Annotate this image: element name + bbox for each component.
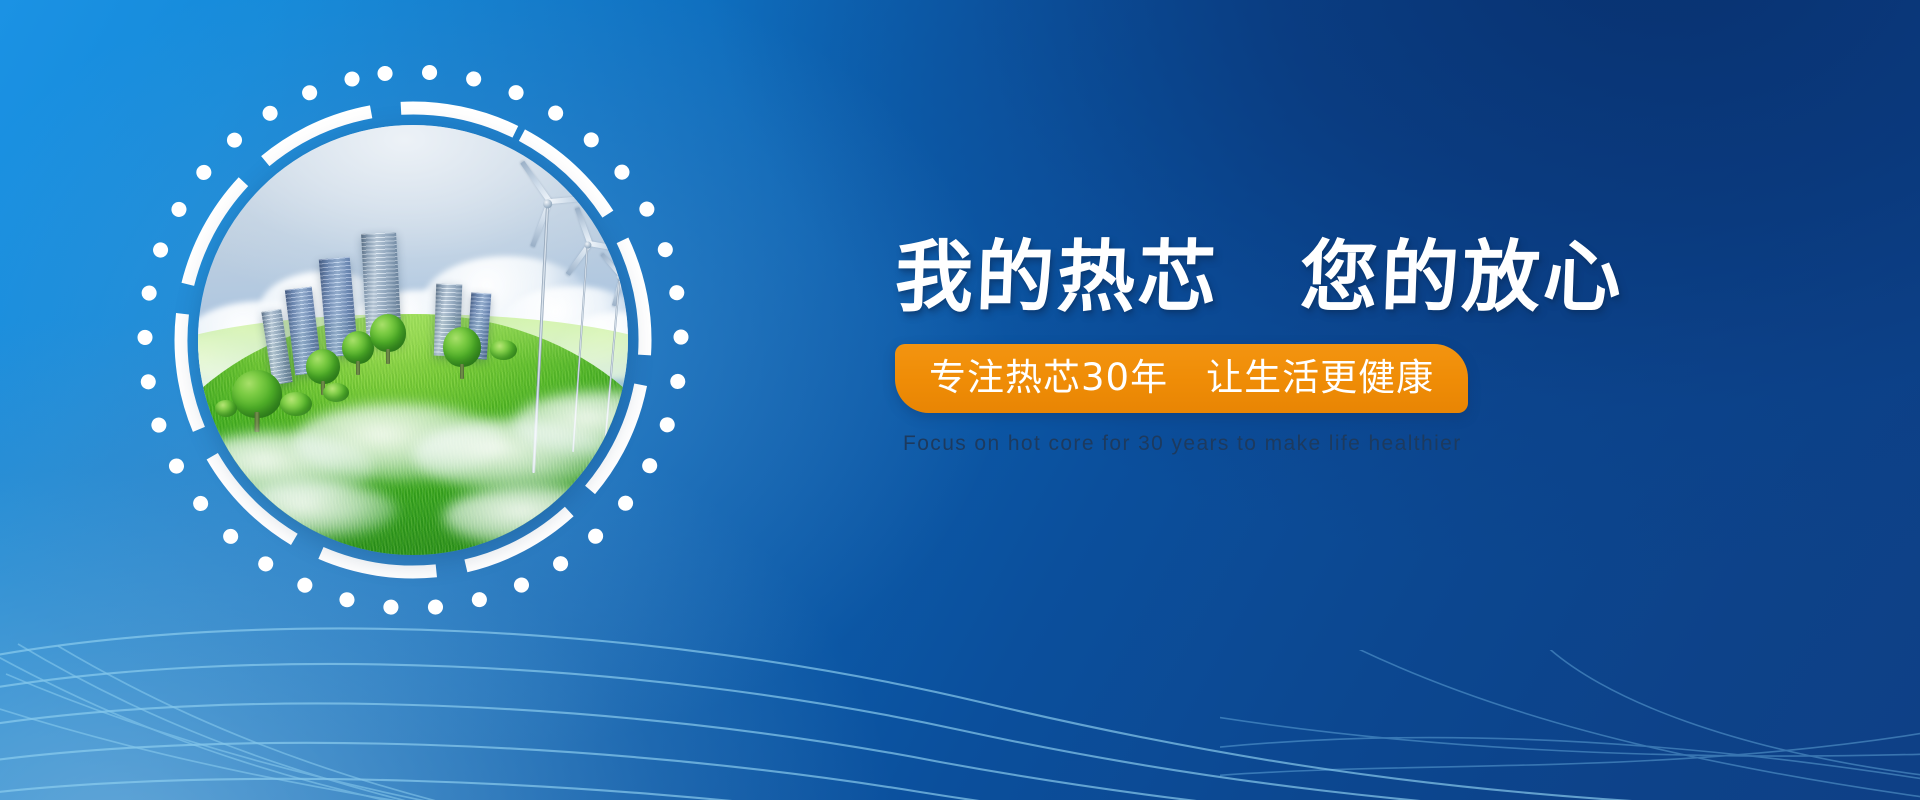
promo-banner: 我的热芯 您的放心 专注热芯30年 让生活更健康 Focus on hot co…: [0, 0, 1920, 800]
globe-mist: [198, 366, 628, 555]
banner-copy: 我的热芯 您的放心 专注热芯30年 让生活更健康 Focus on hot co…: [895, 236, 1735, 456]
globe-image: [198, 125, 628, 555]
eco-globe-graphic: [131, 58, 695, 622]
tagline-badge: 专注热芯30年 让生活更健康: [895, 344, 1468, 413]
english-tagline: Focus on hot core for 30 years to make l…: [903, 432, 1735, 456]
headline: 我的热芯 您的放心: [894, 236, 1737, 322]
tree-4: [370, 314, 406, 364]
